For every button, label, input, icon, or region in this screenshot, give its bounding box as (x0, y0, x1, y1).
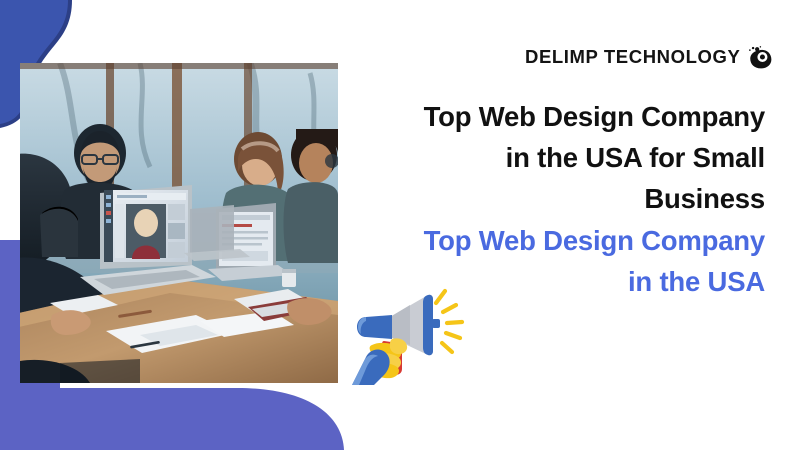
page-title: Top Web Design Company in the USA for Sm… (380, 96, 765, 219)
delimp-circle-mark-icon (747, 44, 773, 70)
headline-line-3: Business (380, 178, 765, 219)
brand-logo-text: DELIMP TECHNOLOGY (525, 48, 740, 67)
headline-line-2: in the USA for Small (380, 137, 765, 178)
megaphone-emoji (352, 281, 474, 385)
brand-logo: DELIMP TECHNOLOGY (525, 43, 773, 71)
headline-line-1: Top Web Design Company (380, 96, 765, 137)
team-meeting-photo-art (20, 63, 338, 383)
purple-bottom-blob-shape (0, 388, 344, 450)
poster-canvas: DELIMP TECHNOLOGY Top Web Design Company… (0, 0, 800, 450)
team-meeting-photo (20, 63, 338, 383)
subheadline-line-1: Top Web Design Company (380, 220, 765, 261)
purple-corner-triangle-shape (318, 432, 338, 450)
